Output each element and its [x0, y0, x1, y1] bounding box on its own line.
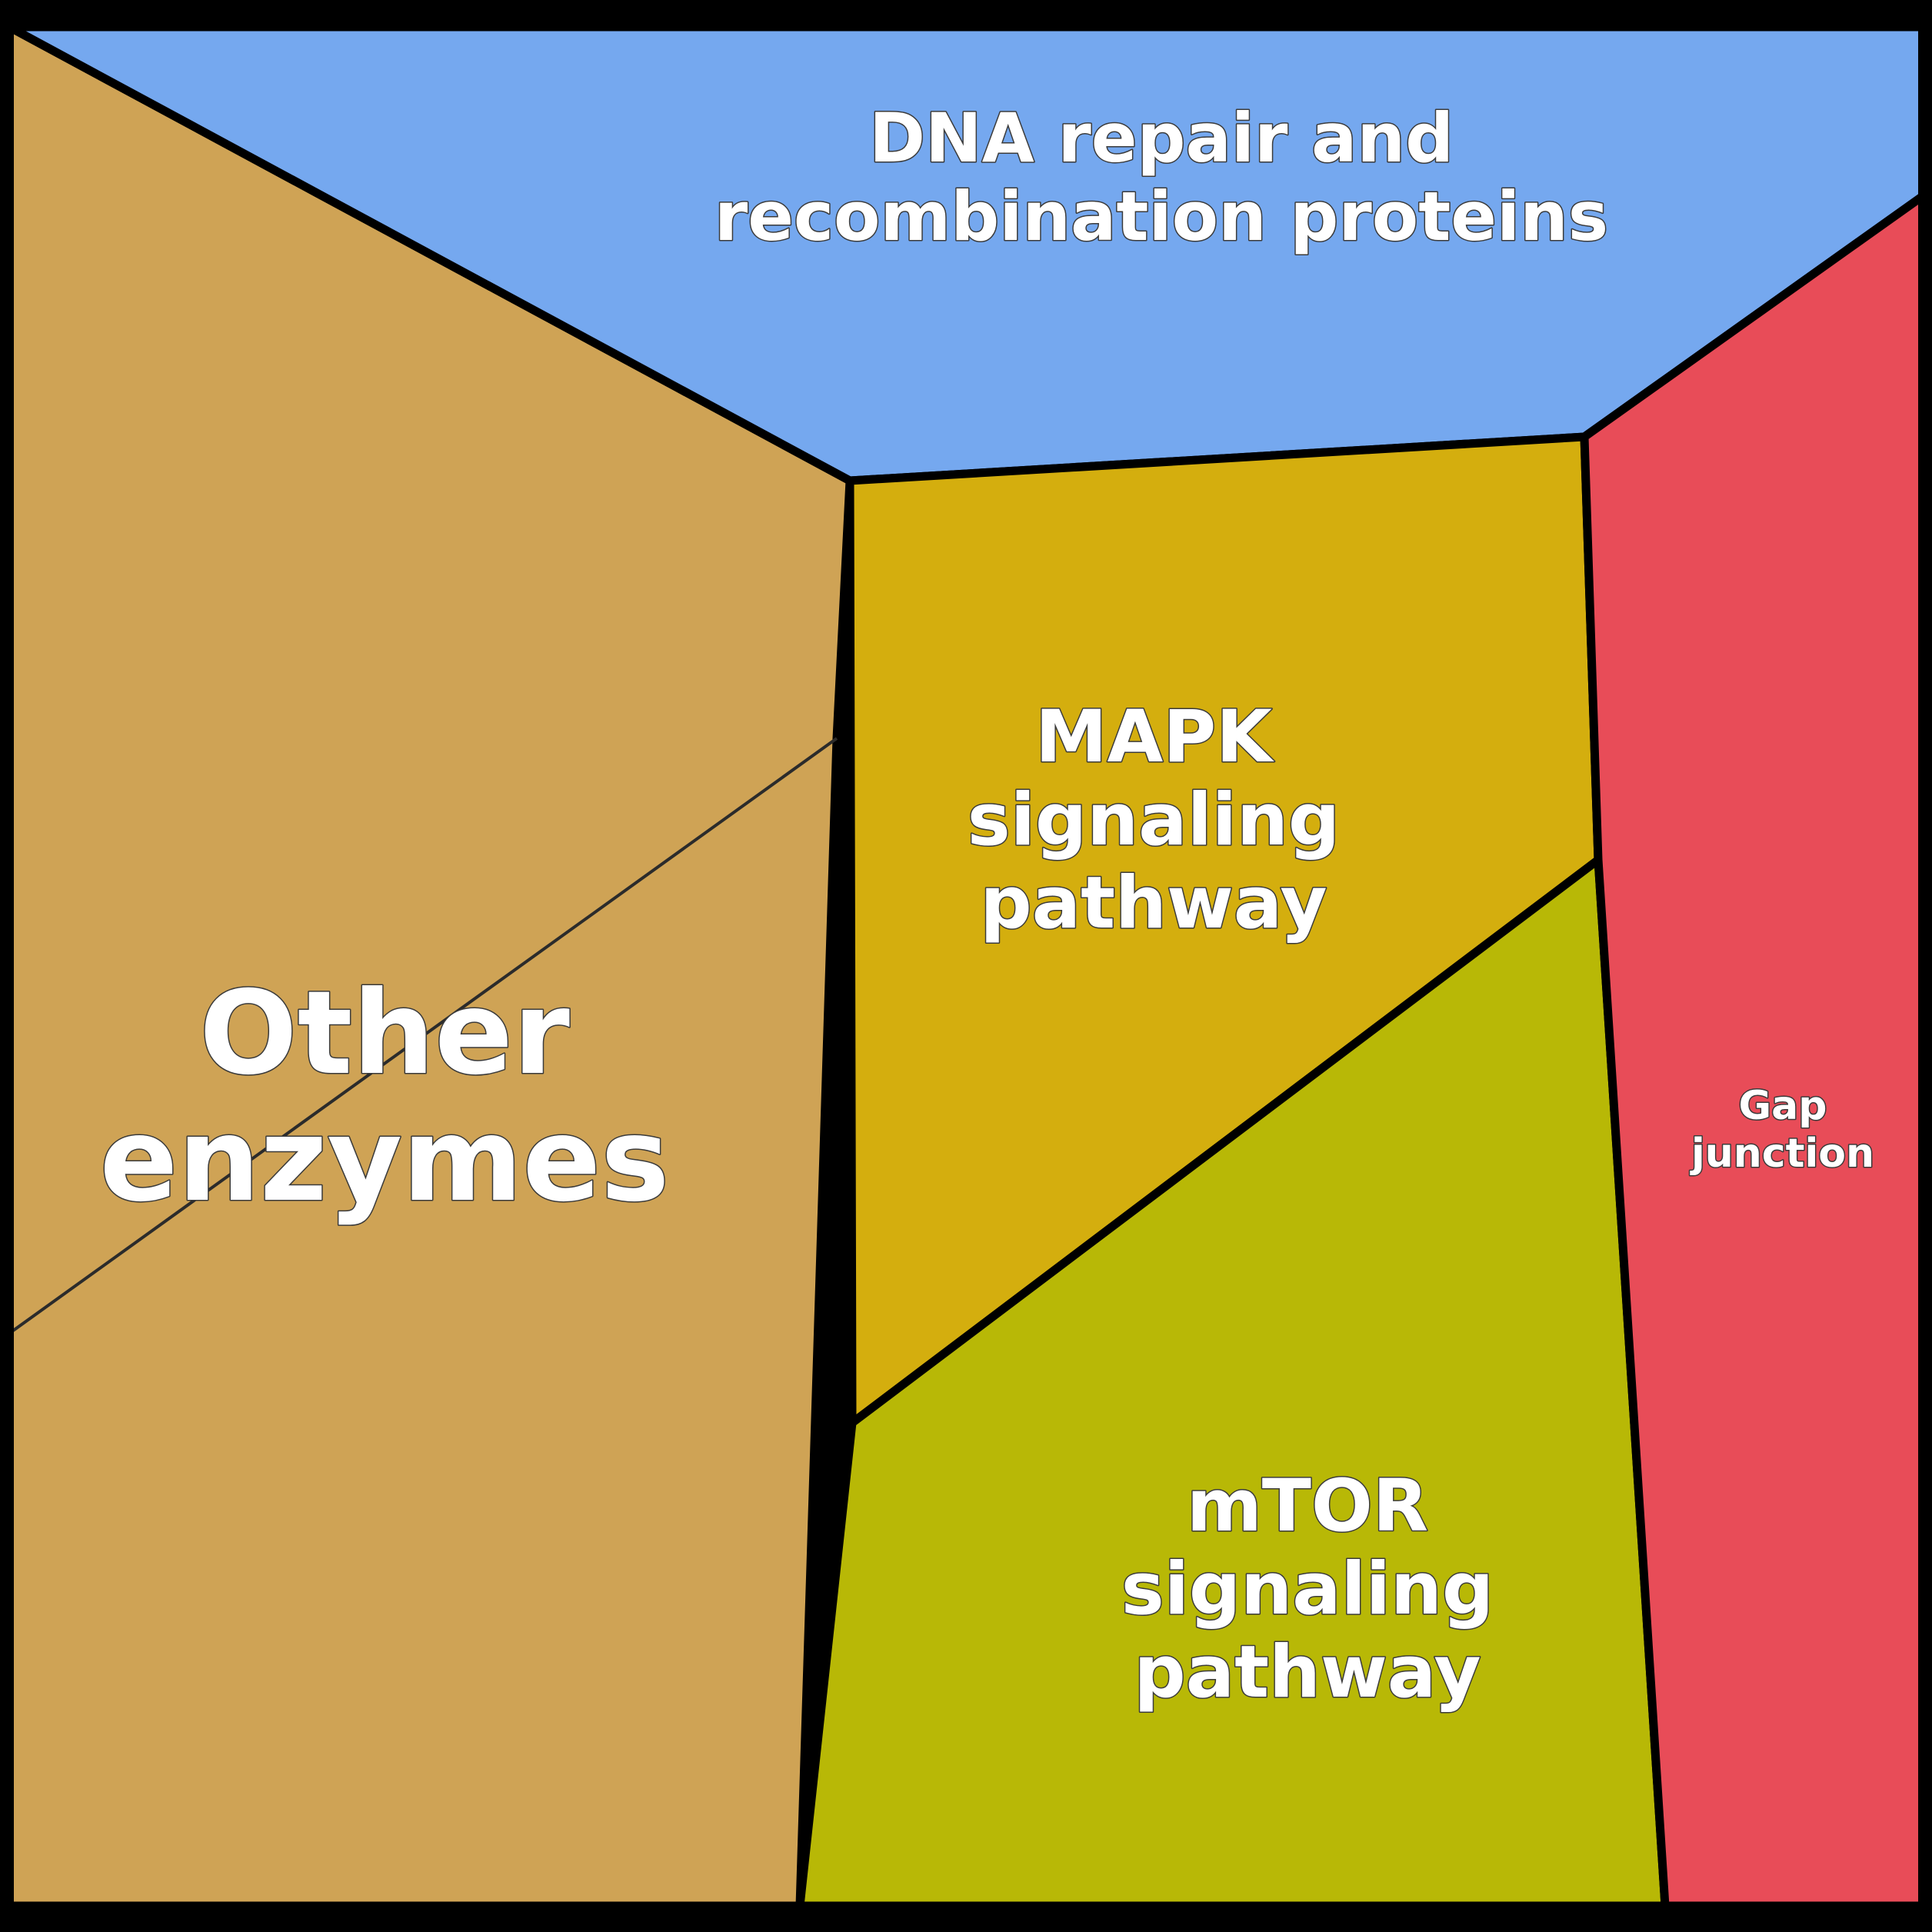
cell-label-line: mTOR — [1187, 1464, 1428, 1548]
cell-label-line: pathway — [980, 861, 1327, 945]
cell-label-line: recombination proteins — [715, 177, 1608, 256]
voronoi-treemap-figure: Otherenzymes DNA repair andrecombination… — [0, 0, 1932, 1932]
cell-label-line: enzymes — [100, 1094, 670, 1227]
cell-label-line: junction — [1690, 1131, 1874, 1177]
cell-label-line: Other — [199, 967, 570, 1101]
cell-label-line: Gap — [1739, 1083, 1827, 1129]
cell-label-line: MAPK — [1035, 695, 1274, 779]
cell-label-line: signaling — [1121, 1547, 1494, 1631]
cell-label-line: signaling — [968, 778, 1340, 862]
treemap-canvas: Otherenzymes DNA repair andrecombination… — [0, 0, 1932, 1932]
cell-label-line: pathway — [1134, 1631, 1481, 1714]
cell-label-line: DNA repair and — [869, 98, 1454, 178]
